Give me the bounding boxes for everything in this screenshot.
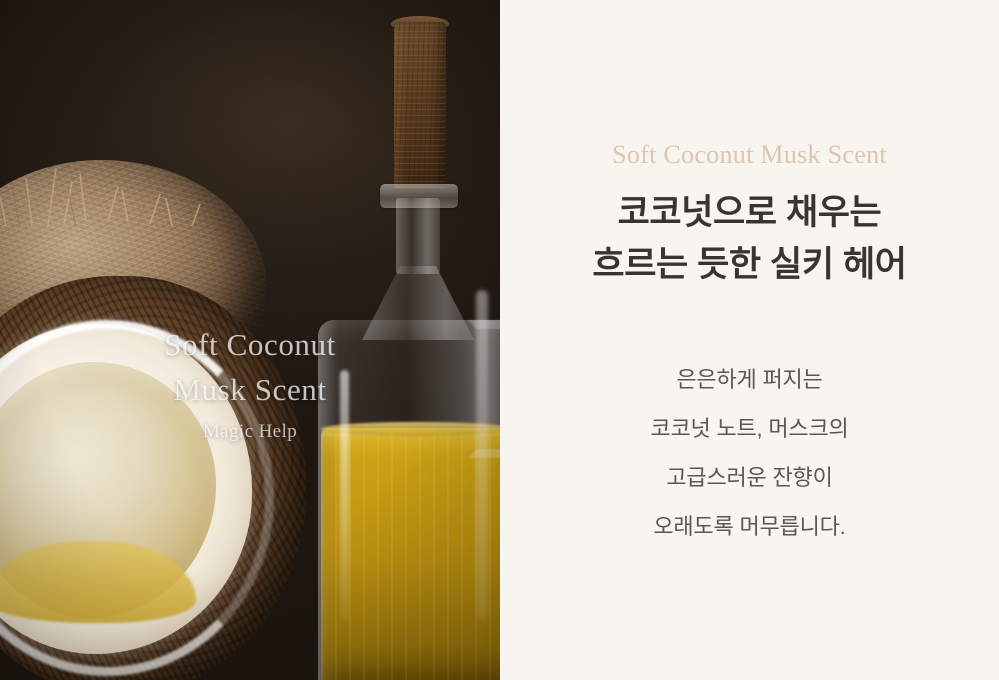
product-banner: Soft Coconut Musk Scent Magic Help Soft … [0,0,999,680]
description-text: 은은하게 퍼지는 코코넛 노트, 머스크의 고급스러운 잔향이 오래도록 머무릅… [650,355,848,551]
halved-coconut [0,276,306,680]
body-line-4: 오래도록 머무릅니다. [650,502,848,551]
oil-bottle [318,170,500,680]
scent-eyebrow: Soft Coconut Musk Scent [612,139,887,171]
body-line-2: 코코넛 노트, 머스크의 [650,404,848,453]
page-title: 코코넛으로 채우는 흐르는 듯한 실키 헤어 [592,187,906,291]
coconut-flesh-rim [0,320,274,676]
body-line-1: 은은하게 퍼지는 [650,355,848,404]
bottle-neck [396,198,440,274]
glass-highlight-right [476,290,488,620]
glass-highlight-left [340,370,349,620]
copy-panel: Soft Coconut Musk Scent 코코넛으로 채우는 흐르는 듯한… [500,0,999,680]
product-photo: Soft Coconut Musk Scent Magic Help [0,0,500,680]
cork-stopper [394,22,446,188]
headline-line-1: 코코넛으로 채우는 [592,187,906,239]
body-line-3: 고급스러운 잔향이 [650,453,848,502]
headline-line-2: 흐르는 듯한 실키 헤어 [592,239,906,291]
